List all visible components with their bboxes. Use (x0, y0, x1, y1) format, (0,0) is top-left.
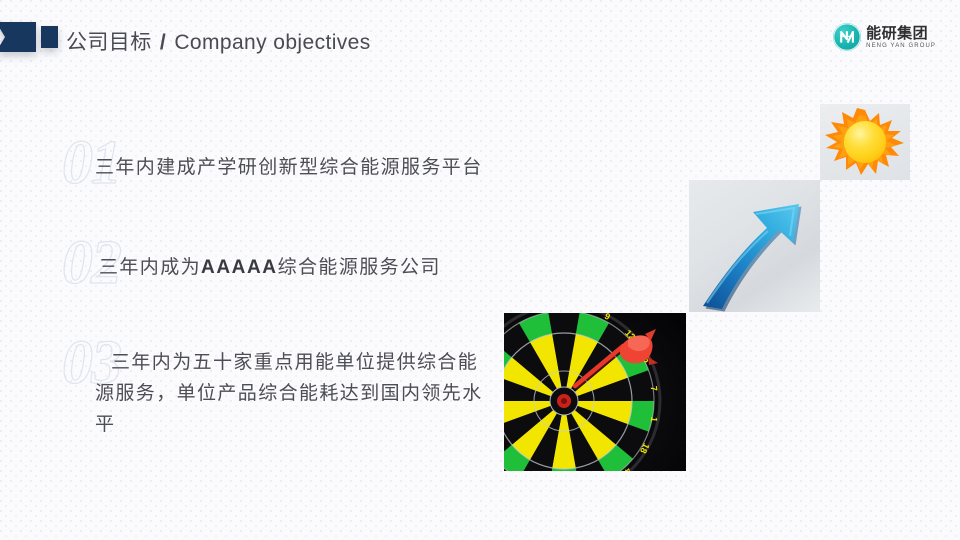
sun-icon (825, 108, 904, 175)
objective-text-1: 三年内建成产学研创新型综合能源服务平台 (95, 152, 483, 183)
page-title: 公司目标 / Company objectives (66, 26, 371, 56)
objective-item-2: 02 三年内成为AAAAA综合能源服务公司 (62, 232, 532, 302)
ribbon-body (0, 22, 36, 52)
objective-text-2-emphasis: AAAAA (201, 257, 278, 278)
page-title-cn: 公司目标 (66, 31, 152, 54)
objective-item-1: 01 三年内建成产学研创新型综合能源服务平台 (62, 132, 532, 202)
objective-text-2-after: 综合能源服务公司 (278, 257, 441, 278)
upward-curved-arrow-icon (703, 204, 802, 312)
objective-text-2-before: 三年内成为 (99, 257, 201, 278)
brand-name-en: NENG YAN GROUP (866, 43, 936, 49)
objective-text-3: 三年内为五十家重点用能单位提供综合能源服务，单位产品综合能耗达到国内领先水平 (95, 347, 495, 440)
ribbon-tip (41, 26, 58, 48)
brand-name-cn: 能研集团 (866, 26, 936, 41)
growth-arrow-photo (689, 180, 820, 312)
dartboard-with-dart-icon: 6 9 12 5 7 1 18 4 8 (504, 313, 686, 471)
brand-logo: 能研集团 NENG YAN GROUP (833, 23, 936, 51)
brand-text: 能研集团 NENG YAN GROUP (866, 26, 936, 49)
objective-item-3: 03 三年内为五十家重点用能单位提供综合能源服务，单位产品综合能耗达到国内领先水… (62, 332, 502, 447)
ribbon-arrow-icon (0, 22, 58, 52)
slide-canvas: 公司目标 / Company objectives 能研集团 NENG YAN … (0, 0, 960, 540)
dartboard-photo: 6 9 12 5 7 1 18 4 8 (504, 313, 686, 471)
page-title-separator: / (158, 31, 168, 54)
neng-yan-circle-logo-icon (833, 23, 861, 51)
page-title-en: Company objectives (174, 31, 370, 54)
objective-text-2: 三年内成为AAAAA综合能源服务公司 (99, 252, 441, 283)
sun-photo (820, 104, 910, 180)
